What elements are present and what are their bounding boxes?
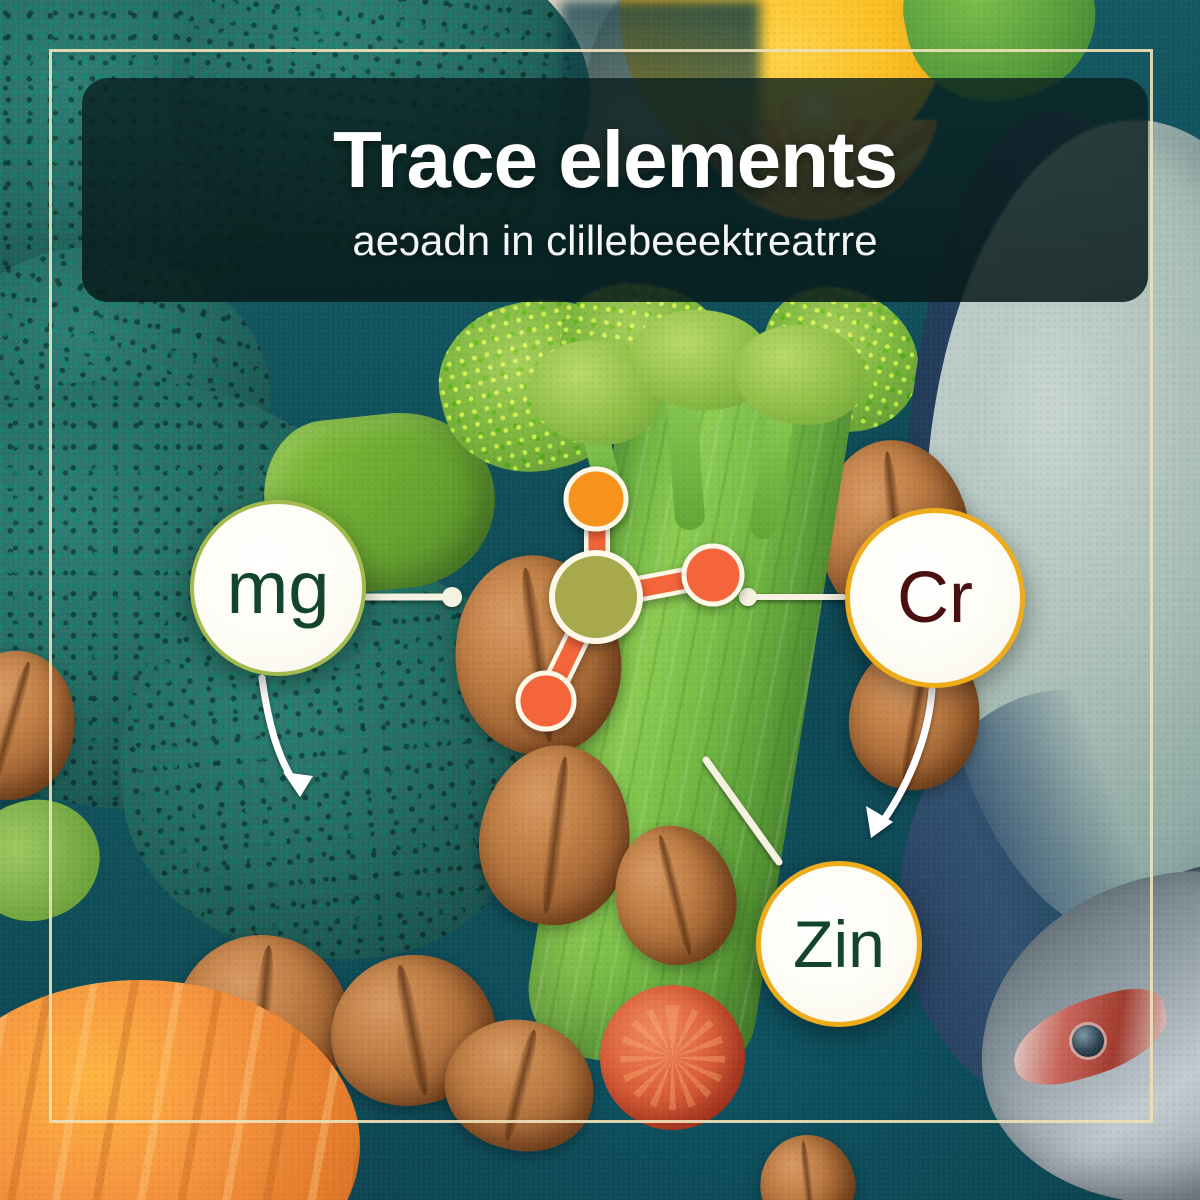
poster-canvas: Trace elements aeɔadn in clillebeeektrea… [0, 0, 1200, 1200]
sprig-head [735, 325, 865, 425]
element-badge-cr[interactable]: Cr [845, 508, 1025, 688]
page-subtitle: aeɔadn in clillebeeektreatrre [352, 217, 877, 265]
element-badge-zin[interactable]: Zin [756, 861, 922, 1027]
title-banner: Trace elements aeɔadn in clillebeeektrea… [82, 78, 1148, 302]
fish-eye [1072, 1025, 1104, 1057]
element-badge-mg[interactable]: mg [190, 500, 366, 676]
element-badge-cr-label: Cr [897, 562, 973, 634]
broccoli-sprig-cluster [470, 300, 890, 530]
element-badge-zin-label: Zin [793, 911, 885, 977]
element-badge-mg-label: mg [227, 551, 330, 625]
tomato [600, 985, 745, 1130]
page-title: Trace elements [333, 119, 897, 201]
